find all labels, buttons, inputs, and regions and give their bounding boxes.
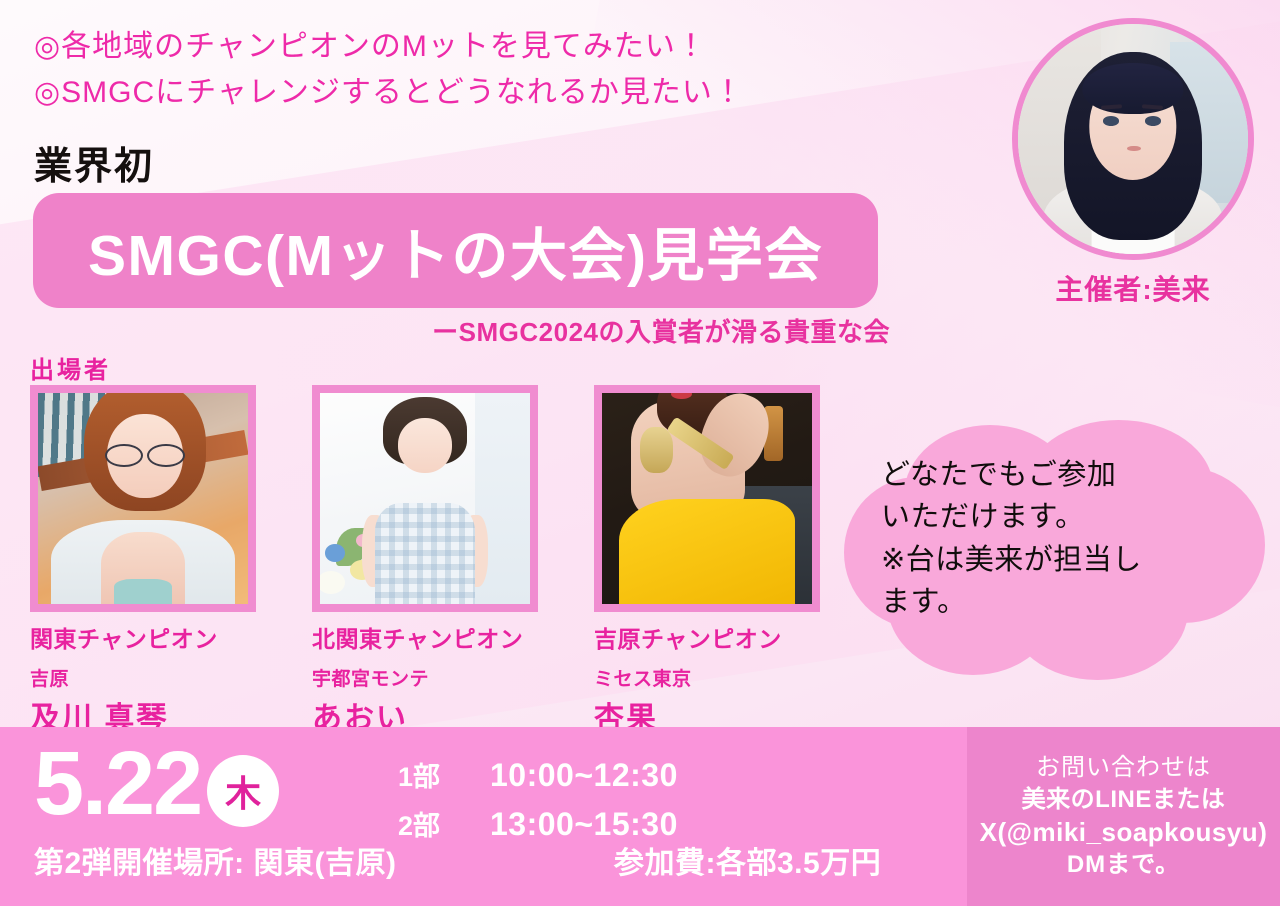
event-date: 5.22	[34, 741, 201, 827]
event-fee: 参加費:各部3.5万円	[614, 838, 881, 882]
participant-title: 関東チャンピオン	[30, 620, 256, 654]
participant-title: 北関東チャンピオン	[312, 620, 538, 654]
participant-shop: 宇都宮モンテ	[312, 664, 538, 691]
participant-title: 吉原チャンピオン	[594, 620, 820, 654]
contact-line-2: 美来のLINEまたは	[1022, 784, 1226, 816]
organizer-avatar	[1012, 18, 1254, 260]
participant-card: 関東チャンピオン 吉原 及川 真琴	[30, 385, 256, 737]
main-title-banner: SMGC(Mットの大会)見学会	[33, 193, 878, 308]
session-label: 1部	[398, 755, 490, 794]
kicker-label: 業界初	[34, 135, 154, 190]
contact-panel: お問い合わせは 美来のLINEまたは X(@miki_soapkousyu) D…	[967, 727, 1280, 906]
participant-photo-aoi	[312, 385, 538, 612]
participant-photo-makoto	[30, 385, 256, 612]
main-title-text: SMGC(Mットの大会)見学会	[88, 210, 823, 292]
participant-shop: ミセス東京	[594, 664, 820, 691]
header-bullet-2: ◎SMGCにチャレンジするとどうなれるか見たい！	[34, 70, 744, 116]
notice-cloud-bubble: どなたでもご参加 いただけます。 ※台は美来が担当し ます。	[835, 420, 1265, 680]
session-time: 10:00~12:30	[490, 757, 678, 794]
contact-line-4: DMまで。	[1067, 849, 1180, 881]
session-label: 2部	[398, 804, 490, 843]
notice-text: どなたでもご参加 いただけます。 ※台は美来が担当し ます。	[881, 454, 1211, 623]
avatar-illustration	[1018, 24, 1248, 254]
contact-line-1: お問い合わせは	[1036, 752, 1211, 784]
header-bullet-1: ◎各地域のチャンピオンのMットを見てみたい！	[34, 24, 744, 70]
participant-shop: 吉原	[30, 664, 256, 691]
weekday-badge: 木	[207, 755, 279, 827]
subtitle-text: ーSMGC2024の入賞者が滑る貴重な会	[0, 312, 890, 349]
participants-section-label: 出場者	[30, 350, 111, 385]
participant-card: 北関東チャンピオン 宇都宮モンテ あおい	[312, 385, 538, 737]
participant-photo-anzu	[594, 385, 820, 612]
flyer-canvas: ◎各地域のチャンピオンのMットを見てみたい！ ◎SMGCにチャレンジするとどうな…	[0, 0, 1280, 906]
participant-card: 吉原チャンピオン ミセス東京 杏果	[594, 385, 820, 737]
event-venue: 第2弾開催場所: 関東(吉原)	[34, 838, 397, 882]
contact-handle[interactable]: X(@miki_soapkousyu)	[980, 815, 1268, 849]
session-row: 1部 10:00~12:30	[398, 755, 678, 794]
weekday-label: 木	[225, 765, 261, 817]
event-date-block: 5.22 木	[34, 741, 279, 827]
organizer-label: 主催者:美来	[1008, 268, 1258, 308]
organizer-block: 主催者:美来	[1008, 18, 1258, 308]
header-bullet-list: ◎各地域のチャンピオンのMットを見てみたい！ ◎SMGCにチャレンジするとどうな…	[34, 24, 744, 115]
